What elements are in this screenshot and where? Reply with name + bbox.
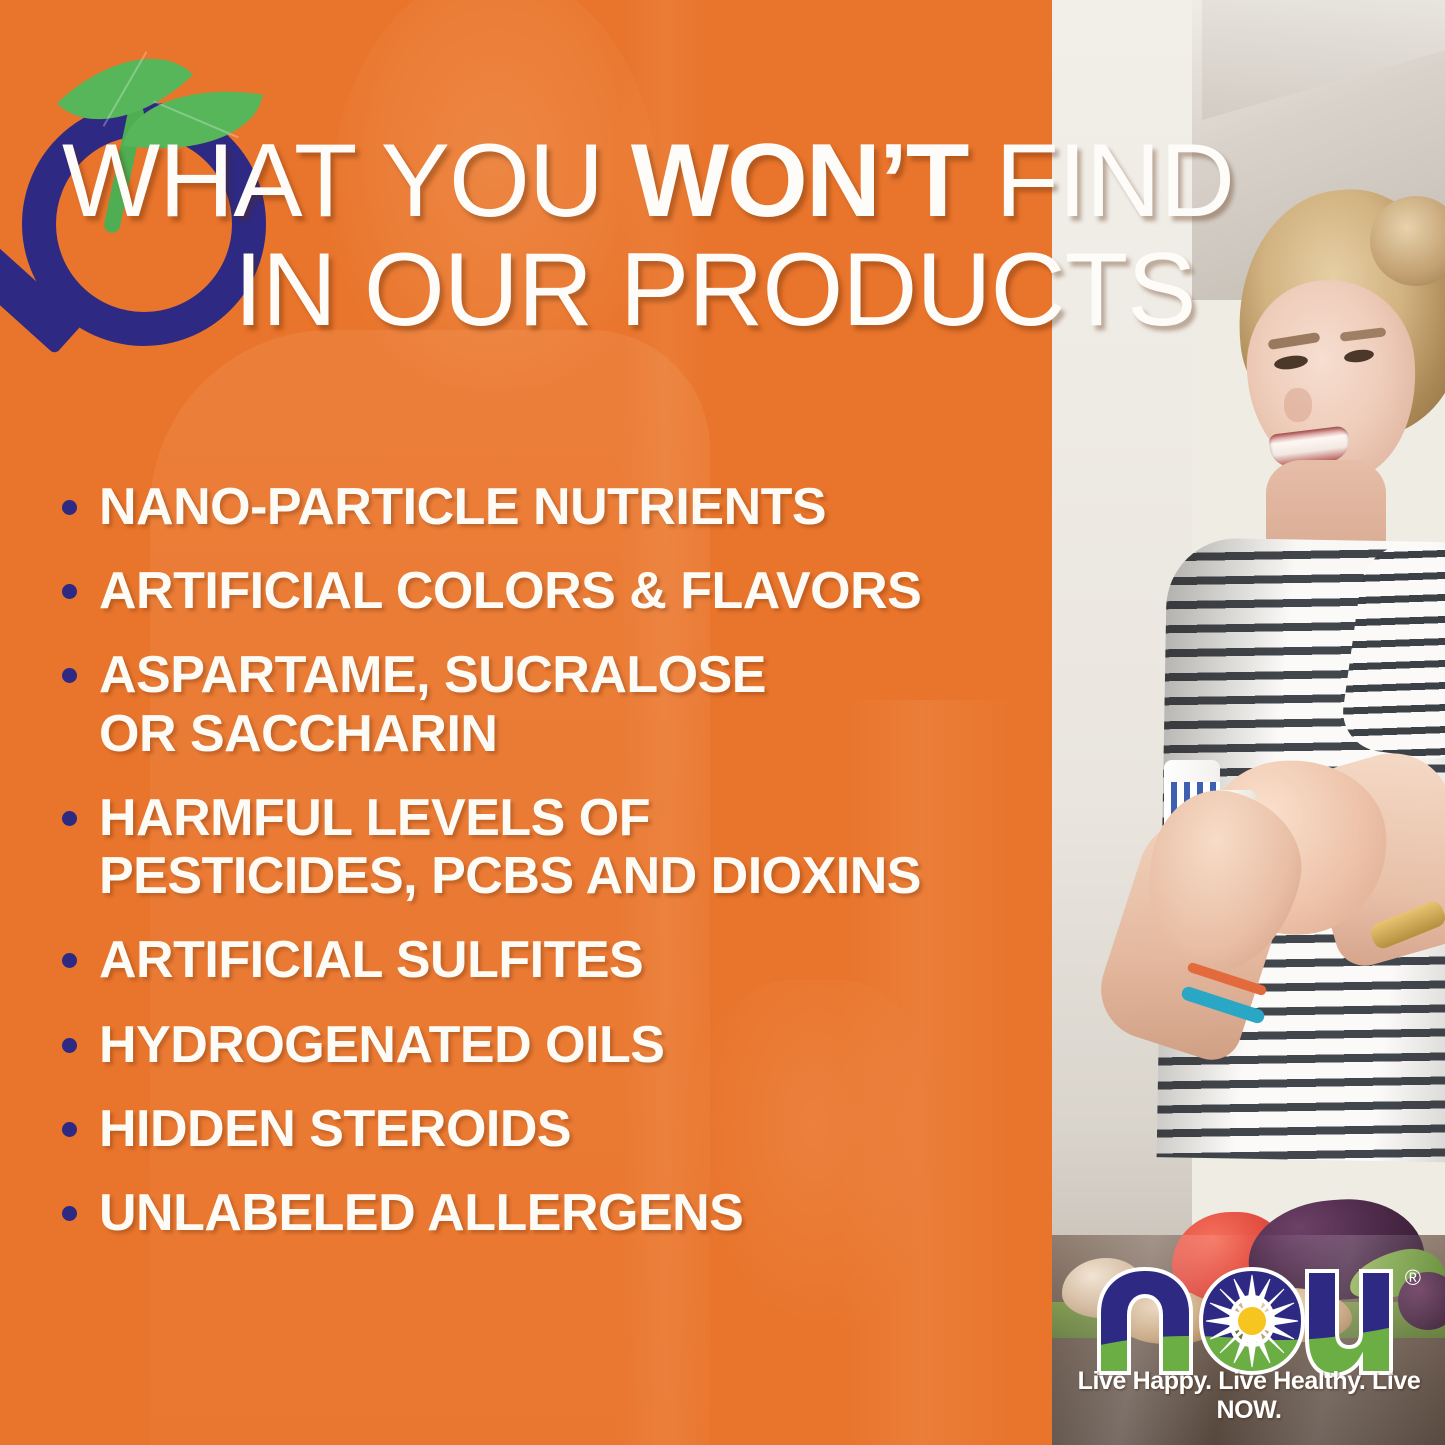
bullet-dot-icon xyxy=(62,668,77,683)
headline-line2: IN OUR PRODUCTS xyxy=(234,239,1422,342)
now-logo-svg xyxy=(1091,1261,1403,1377)
bullet-label: HARMFUL LEVELS OF PESTICIDES, PCBS AND D… xyxy=(99,789,921,905)
bullet-dot-icon xyxy=(62,1038,77,1053)
list-item: NANO-PARTICLE NUTRIENTS xyxy=(62,478,1042,536)
headline-line1-emphasis: WON’T xyxy=(631,123,968,239)
list-item: ARTIFICIAL SULFITES xyxy=(62,931,1042,989)
excluded-ingredients-list: NANO-PARTICLE NUTRIENTS ARTIFICIAL COLOR… xyxy=(62,478,1042,1268)
headline-line1-prefix: WHAT YOU xyxy=(62,123,631,239)
bullet-label: HIDDEN STEROIDS xyxy=(99,1100,571,1158)
bullet-label: ASPARTAME, SUCRALOSE OR SACCHARIN xyxy=(99,646,766,762)
bullet-dot-icon xyxy=(62,1122,77,1137)
now-wordmark-icon xyxy=(1091,1261,1403,1377)
bullet-label: HYDROGENATED OILS xyxy=(99,1016,664,1074)
page-title: WHAT YOU WON’T FIND IN OUR PRODUCTS xyxy=(62,130,1422,342)
photo-woman-nose xyxy=(1284,388,1312,422)
bullet-label: NANO-PARTICLE NUTRIENTS xyxy=(99,478,826,536)
bullet-dot-icon xyxy=(62,500,77,515)
list-item: UNLABELED ALLERGENS xyxy=(62,1184,1042,1242)
list-item: HIDDEN STEROIDS xyxy=(62,1100,1042,1158)
bullet-dot-icon xyxy=(62,811,77,826)
bullet-dot-icon xyxy=(62,584,77,599)
bullet-label: ARTIFICIAL COLORS & FLAVORS xyxy=(99,562,921,620)
list-item: ASPARTAME, SUCRALOSE OR SACCHARIN xyxy=(62,646,1042,762)
now-brand-logo: ® Live Happy. Live Healthy. Live NOW. xyxy=(1069,1257,1429,1433)
list-item: HARMFUL LEVELS OF PESTICIDES, PCBS AND D… xyxy=(62,789,1042,905)
brand-tagline: Live Happy. Live Healthy. Live NOW. xyxy=(1069,1367,1429,1425)
bullet-dot-icon xyxy=(62,953,77,968)
list-item: ARTIFICIAL COLORS & FLAVORS xyxy=(62,562,1042,620)
headline-line1-suffix: FIND xyxy=(967,123,1234,239)
bullet-label: ARTIFICIAL SULFITES xyxy=(99,931,643,989)
registered-trademark-icon: ® xyxy=(1405,1265,1421,1291)
bullet-label: UNLABELED ALLERGENS xyxy=(99,1184,743,1242)
bullet-dot-icon xyxy=(62,1206,77,1221)
poster-root: WHAT YOU WON’T FIND IN OUR PRODUCTS NANO… xyxy=(0,0,1445,1445)
list-item: HYDROGENATED OILS xyxy=(62,1016,1042,1074)
